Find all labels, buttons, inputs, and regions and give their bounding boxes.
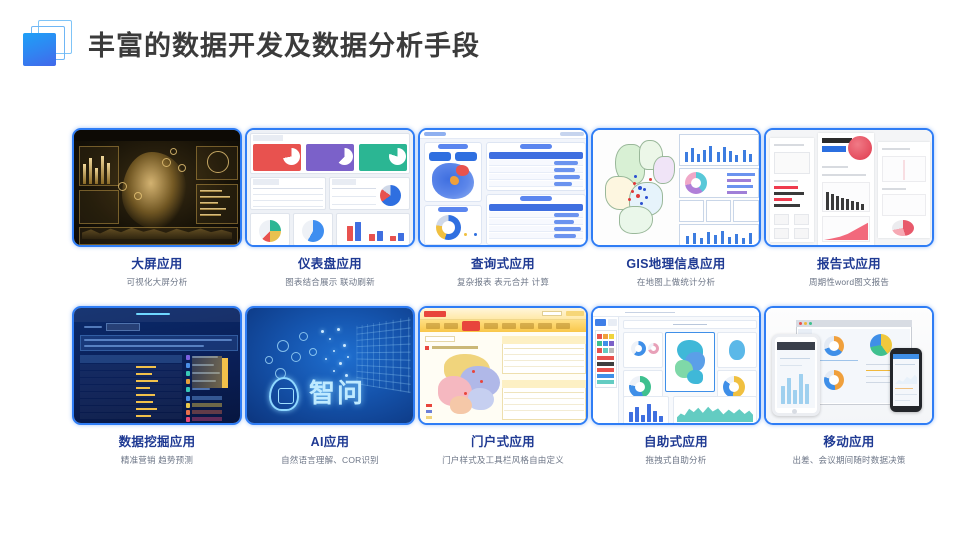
slide-root: 丰富的数据开发及数据分析手段 xyxy=(0,0,960,534)
thumbnail-gis[interactable] xyxy=(591,128,761,247)
caption-mobile: 移动应用 出差、会议期间随时数据决策 xyxy=(764,431,934,466)
card-subtitle: 精准营销 趋势预测 xyxy=(72,454,242,466)
card-grid: 大屏应用 可视化大屏分析 xyxy=(0,120,960,476)
thumbnail-ai[interactable]: 智问 xyxy=(245,306,415,425)
card-row-1: 大屏应用 可视化大屏分析 xyxy=(0,120,960,298)
card-subtitle: 图表结合展示 联动刷新 xyxy=(245,276,415,288)
card-title: AI应用 xyxy=(245,431,415,450)
card-report[interactable]: 报告式应用 周期性word图文报告 xyxy=(764,128,934,288)
card-title: 数据挖掘应用 xyxy=(72,431,242,450)
stacked-squares-icon xyxy=(20,20,78,70)
caption-gis: GIS地理信息应用 在地图上做统计分析 xyxy=(591,253,761,288)
caption-query: 查询式应用 复杂报表 表元合并 计算 xyxy=(418,253,588,288)
thumbnail-report[interactable] xyxy=(764,128,934,247)
card-title: 仪表盘应用 xyxy=(245,253,415,272)
caption-ai: AI应用 自然语言理解、COR识别 xyxy=(245,431,415,466)
card-title: 查询式应用 xyxy=(418,253,588,272)
card-subtitle: 在地图上做统计分析 xyxy=(591,276,761,288)
ai-head-icon xyxy=(269,377,299,411)
card-subtitle: 可视化大屏分析 xyxy=(72,276,242,288)
caption-self-service: 自助式应用 拖拽式自助分析 xyxy=(591,431,761,466)
card-title: 移动应用 xyxy=(764,431,934,450)
card-data-mining[interactable]: 数据挖掘应用 精准营销 趋势预测 xyxy=(72,306,242,466)
thumbnail-big-screen[interactable] xyxy=(72,128,242,247)
card-dashboard[interactable]: 仪表盘应用 图表结合展示 联动刷新 xyxy=(245,128,415,288)
card-subtitle: 自然语言理解、COR识别 xyxy=(245,454,415,466)
caption-report: 报告式应用 周期性word图文报告 xyxy=(764,253,934,288)
ai-artwork-text: 智问 xyxy=(309,373,365,410)
thumbnail-dashboard[interactable] xyxy=(245,128,415,247)
caption-dashboard: 仪表盘应用 图表结合展示 联动刷新 xyxy=(245,253,415,288)
card-ai[interactable]: 智问 AI应用 自然语言理解、COR识别 xyxy=(245,306,415,466)
card-big-screen[interactable]: 大屏应用 可视化大屏分析 xyxy=(72,128,242,288)
card-self-service[interactable]: 自助式应用 拖拽式自助分析 xyxy=(591,306,761,466)
card-portal[interactable]: 门户式应用 门户样式及工具栏风格自由定义 xyxy=(418,306,588,466)
card-title: GIS地理信息应用 xyxy=(591,253,761,272)
caption-big-screen: 大屏应用 可视化大屏分析 xyxy=(72,253,242,288)
page-title: 丰富的数据开发及数据分析手段 xyxy=(88,24,480,63)
caption-data-mining: 数据挖掘应用 精准营销 趋势预测 xyxy=(72,431,242,466)
thumbnail-data-mining[interactable] xyxy=(72,306,242,425)
card-subtitle: 复杂报表 表元合并 计算 xyxy=(418,276,588,288)
card-title: 大屏应用 xyxy=(72,253,242,272)
card-row-2: 数据挖掘应用 精准营销 趋势预测 xyxy=(0,298,960,476)
slide-header: 丰富的数据开发及数据分析手段 xyxy=(0,0,960,90)
card-mobile[interactable]: 移动应用 出差、会议期间随时数据决策 xyxy=(764,306,934,466)
card-query[interactable]: 查询式应用 复杂报表 表元合并 计算 xyxy=(418,128,588,288)
card-subtitle: 周期性word图文报告 xyxy=(764,276,934,288)
card-subtitle: 出差、会议期间随时数据决策 xyxy=(764,454,934,466)
card-title: 自助式应用 xyxy=(591,431,761,450)
card-subtitle: 门户样式及工具栏风格自由定义 xyxy=(418,454,588,466)
thumbnail-query[interactable] xyxy=(418,128,588,247)
card-gis[interactable]: GIS地理信息应用 在地图上做统计分析 xyxy=(591,128,761,288)
thumbnail-self-service[interactable] xyxy=(591,306,761,425)
thumbnail-mobile[interactable] xyxy=(764,306,934,425)
caption-portal: 门户式应用 门户样式及工具栏风格自由定义 xyxy=(418,431,588,466)
card-title: 报告式应用 xyxy=(764,253,934,272)
card-title: 门户式应用 xyxy=(418,431,588,450)
card-subtitle: 拖拽式自助分析 xyxy=(591,454,761,466)
thumbnail-portal[interactable] xyxy=(418,306,588,425)
